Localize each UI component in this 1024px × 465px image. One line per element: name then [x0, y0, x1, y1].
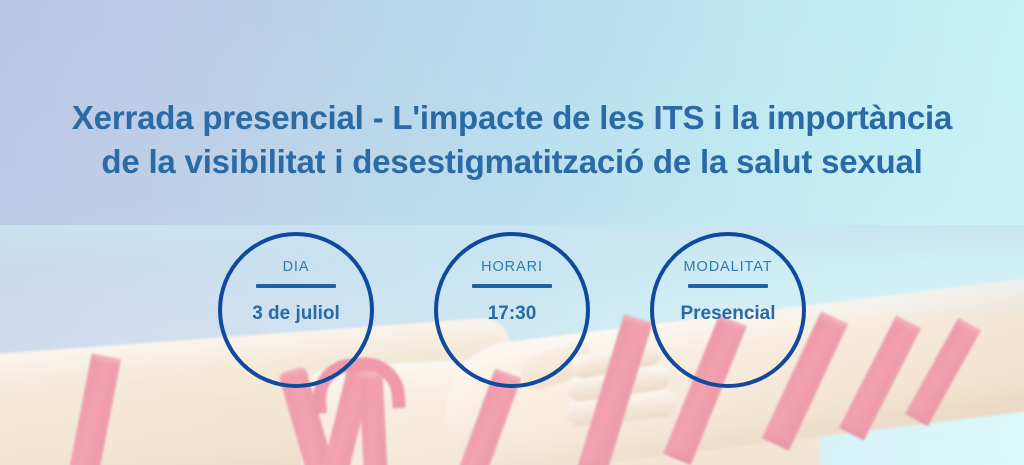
info-circle-divider — [472, 284, 552, 288]
info-circle-dia: DIA 3 de juliol — [218, 232, 374, 388]
info-circle-divider — [256, 284, 336, 288]
info-circle-label: MODALITAT — [684, 260, 773, 275]
info-circles-row: DIA 3 de juliol HORARI 17:30 MODALITAT P… — [0, 232, 1024, 388]
info-circle-value: Presencial — [680, 304, 775, 323]
info-circle-modalitat: MODALITAT Presencial — [650, 232, 806, 388]
banner-title-line-2: de la visibilitat i desestigmatització d… — [30, 140, 994, 184]
banner-title-line-1: Xerrada presencial - L'impacte de les IT… — [30, 96, 994, 140]
info-circle-horari: HORARI 17:30 — [434, 232, 590, 388]
info-circle-value: 17:30 — [488, 304, 537, 323]
info-circle-divider — [688, 284, 768, 288]
info-circle-label: HORARI — [481, 260, 543, 275]
info-circle-value: 3 de juliol — [252, 304, 340, 323]
banner-title: Xerrada presencial - L'impacte de les IT… — [0, 96, 1024, 183]
event-banner: Xerrada presencial - L'impacte de les IT… — [0, 0, 1024, 465]
info-circle-label: DIA — [283, 260, 310, 275]
